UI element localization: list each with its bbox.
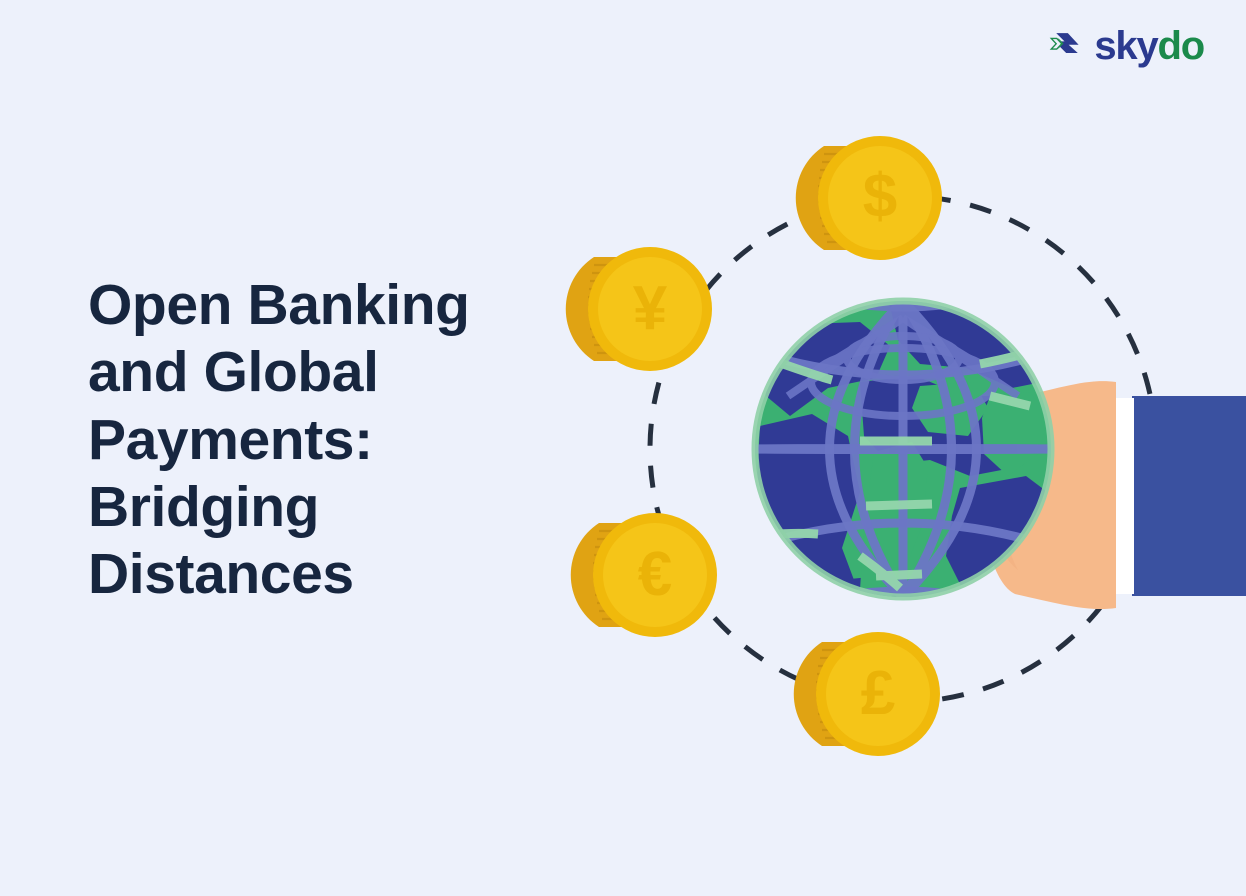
suit-sleeve-icon xyxy=(1110,396,1246,596)
coin-yen: ¥ xyxy=(566,247,712,371)
logo-word-sky: sky xyxy=(1094,26,1157,66)
skydo-logo[interactable]: skydo xyxy=(1049,22,1204,70)
coin-pound: £ xyxy=(794,632,940,756)
coin-euro: € xyxy=(571,513,717,637)
skydo-wordmark: skydo xyxy=(1094,26,1204,66)
banner-canvas: skydo Open Banking and Global Payments: … xyxy=(0,0,1246,896)
coin-symbol-pound: £ xyxy=(861,659,895,728)
page-title: Open Banking and Global Payments: Bridgi… xyxy=(88,272,528,608)
logo-word-do: do xyxy=(1158,26,1204,66)
coin-symbol-dollar: $ xyxy=(863,162,897,231)
skydo-chevron-logo-icon xyxy=(1049,28,1085,64)
global-payments-illustration: $ ¥ xyxy=(560,96,1246,802)
coin-symbol-yen: ¥ xyxy=(633,274,668,343)
coin-symbol-euro: € xyxy=(638,540,672,609)
coin-dollar: $ xyxy=(796,136,942,260)
